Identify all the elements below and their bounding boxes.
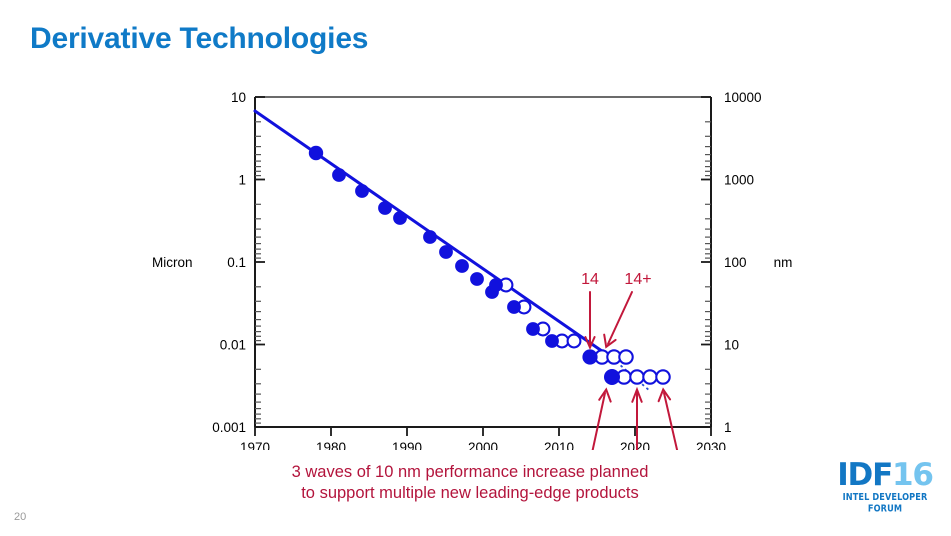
- y-tick-right-label: 1000: [724, 173, 754, 188]
- x-tick-label: 2030: [696, 440, 726, 450]
- arrow-10plusplus-shaft: [664, 393, 681, 450]
- y-axis-right-title: nm: [774, 255, 793, 270]
- logo-subtitle: INTEL DEVELOPER FORUM: [833, 491, 937, 514]
- x-tick-label: 1970: [240, 440, 270, 450]
- derivative-open-markers: [500, 279, 670, 384]
- filled-marker: [470, 272, 484, 286]
- x-tick-label: 1980: [316, 440, 346, 450]
- filled-marker: [378, 201, 392, 215]
- filled-marker: [582, 349, 597, 364]
- y-tick-label: 0.001: [212, 420, 246, 435]
- filled-marker: [423, 230, 437, 244]
- chart-svg: 10 1 0.1 0.01 0.001 Micron 10000 1000 10…: [0, 80, 830, 450]
- logo-idf-text: IDF: [837, 457, 892, 493]
- y-tick-right-label: 1: [724, 420, 732, 435]
- slide-caption: 3 waves of 10 nm performance increase pl…: [200, 462, 740, 504]
- filled-marker: [526, 322, 540, 336]
- x-tick-label: 1990: [392, 440, 422, 450]
- y-tick-label: 10: [231, 90, 246, 105]
- y-tick-label: 0.1: [227, 255, 246, 270]
- arrow-10-shaft: [589, 393, 605, 450]
- filled-marker: [309, 146, 323, 160]
- y-tick-right-label: 10: [724, 338, 739, 353]
- open-marker: [568, 335, 581, 348]
- x-axis-ticks: [255, 427, 711, 436]
- filled-marker: [604, 369, 620, 385]
- filled-marker: [393, 211, 407, 225]
- logo-wordmark: IDF16: [833, 459, 937, 491]
- annotation-label-14: 14: [581, 271, 599, 288]
- slide-canvas: Derivative Technologies: [0, 0, 951, 536]
- open-marker: [656, 370, 669, 383]
- page-number: 20: [14, 511, 26, 523]
- filled-marker: [489, 278, 503, 292]
- x-tick-label: 2000: [468, 440, 498, 450]
- filled-marker: [355, 184, 369, 198]
- arrow-14plus-shaft: [608, 292, 632, 344]
- y-axis-left-title: Micron: [152, 255, 193, 270]
- open-marker: [643, 370, 656, 383]
- y-tick-label: 0.01: [220, 338, 246, 353]
- page-title: Derivative Technologies: [30, 22, 368, 56]
- y-axis-left-labels: 10 1 0.1 0.01 0.001: [212, 90, 246, 435]
- y-axis-right-labels: 10000 1000 100 10 1: [724, 90, 762, 435]
- filled-marker: [455, 259, 469, 273]
- filled-marker: [439, 245, 453, 259]
- y-tick-right-label: 100: [724, 255, 747, 270]
- open-marker: [630, 370, 643, 383]
- caption-line-2: to support multiple new leading-edge pro…: [200, 483, 740, 504]
- x-axis-labels: 1970 1980 1990 2000 2010 2020 2030: [240, 440, 726, 450]
- filled-marker: [507, 300, 521, 314]
- annotation-label-14plus: 14+: [624, 271, 651, 288]
- x-tick-label: 2020: [620, 440, 650, 450]
- y-tick-right-label: 10000: [724, 90, 762, 105]
- filled-marker: [545, 334, 559, 348]
- logo-16-text: 16: [892, 457, 933, 493]
- filled-marker: [332, 168, 346, 182]
- idf16-logo: IDF16 INTEL DEVELOPER FORUM: [833, 459, 937, 509]
- moore-law-scatter-chart: 10 1 0.1 0.01 0.001 Micron 10000 1000 10…: [0, 80, 830, 450]
- x-tick-label: 2010: [544, 440, 574, 450]
- caption-line-1: 3 waves of 10 nm performance increase pl…: [200, 462, 740, 483]
- y-tick-label: 1: [238, 173, 246, 188]
- open-marker: [619, 350, 632, 363]
